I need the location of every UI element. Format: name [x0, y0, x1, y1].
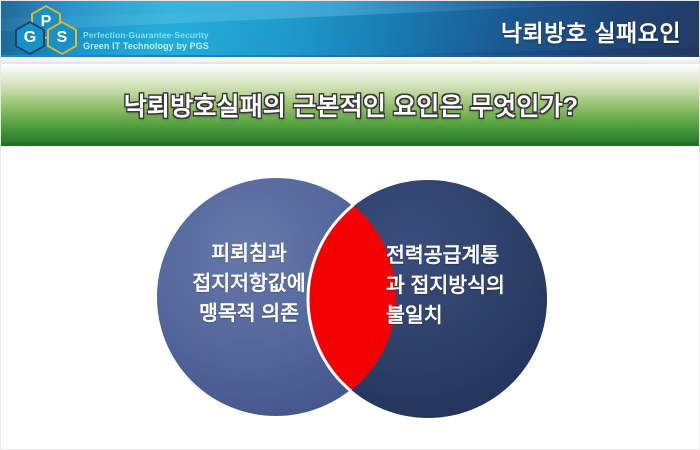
venn-right-label-line3: 불일치: [386, 301, 561, 331]
venn-diagram-svg: [1, 146, 700, 450]
header-banner-gap: [1, 57, 700, 64]
venn-right-label-line2: 과 접지방식의: [386, 271, 561, 301]
slide-canvas: P G S Perfection·Guarantee·Security Gree…: [0, 0, 700, 450]
logo-hexagon-p-letter: P: [41, 14, 52, 30]
logo-tagline-line1: Perfection·Guarantee·Security: [83, 30, 209, 41]
venn-diagram: 피뢰침과 접지저항값에 맹목적 의존 전력공급계통 과 접지방식의 불일치: [1, 146, 700, 450]
venn-left-label-line2: 접지저항값에: [169, 269, 329, 299]
venn-left-label-line3: 맹목적 의존: [169, 299, 329, 329]
slide-header: P G S Perfection·Guarantee·Security Gree…: [1, 1, 700, 57]
venn-right-label-line1: 전력공급계통: [386, 241, 561, 271]
pgs-logo: P G S Perfection·Guarantee·Security Gree…: [11, 5, 191, 53]
logo-hexagon-g-letter: G: [24, 30, 36, 46]
question-banner: 낙뢰방호실패의 근본적인 요인은 무엇인가?: [1, 64, 700, 146]
question-banner-text: 낙뢰방호실패의 근본적인 요인은 무엇인가?: [124, 87, 579, 123]
venn-left-label: 피뢰침과 접지저항값에 맹목적 의존: [169, 239, 329, 329]
venn-left-label-line1: 피뢰침과: [169, 239, 329, 269]
logo-hexagon-s-letter: S: [57, 30, 68, 46]
venn-right-label: 전력공급계통 과 접지방식의 불일치: [386, 241, 561, 331]
logo-tagline-line2: Green IT Technology by PGS: [83, 41, 209, 52]
header-title: 낙뢰방호 실패요인: [501, 14, 681, 48]
logo-tagline: Perfection·Guarantee·Security Green IT T…: [83, 30, 209, 52]
